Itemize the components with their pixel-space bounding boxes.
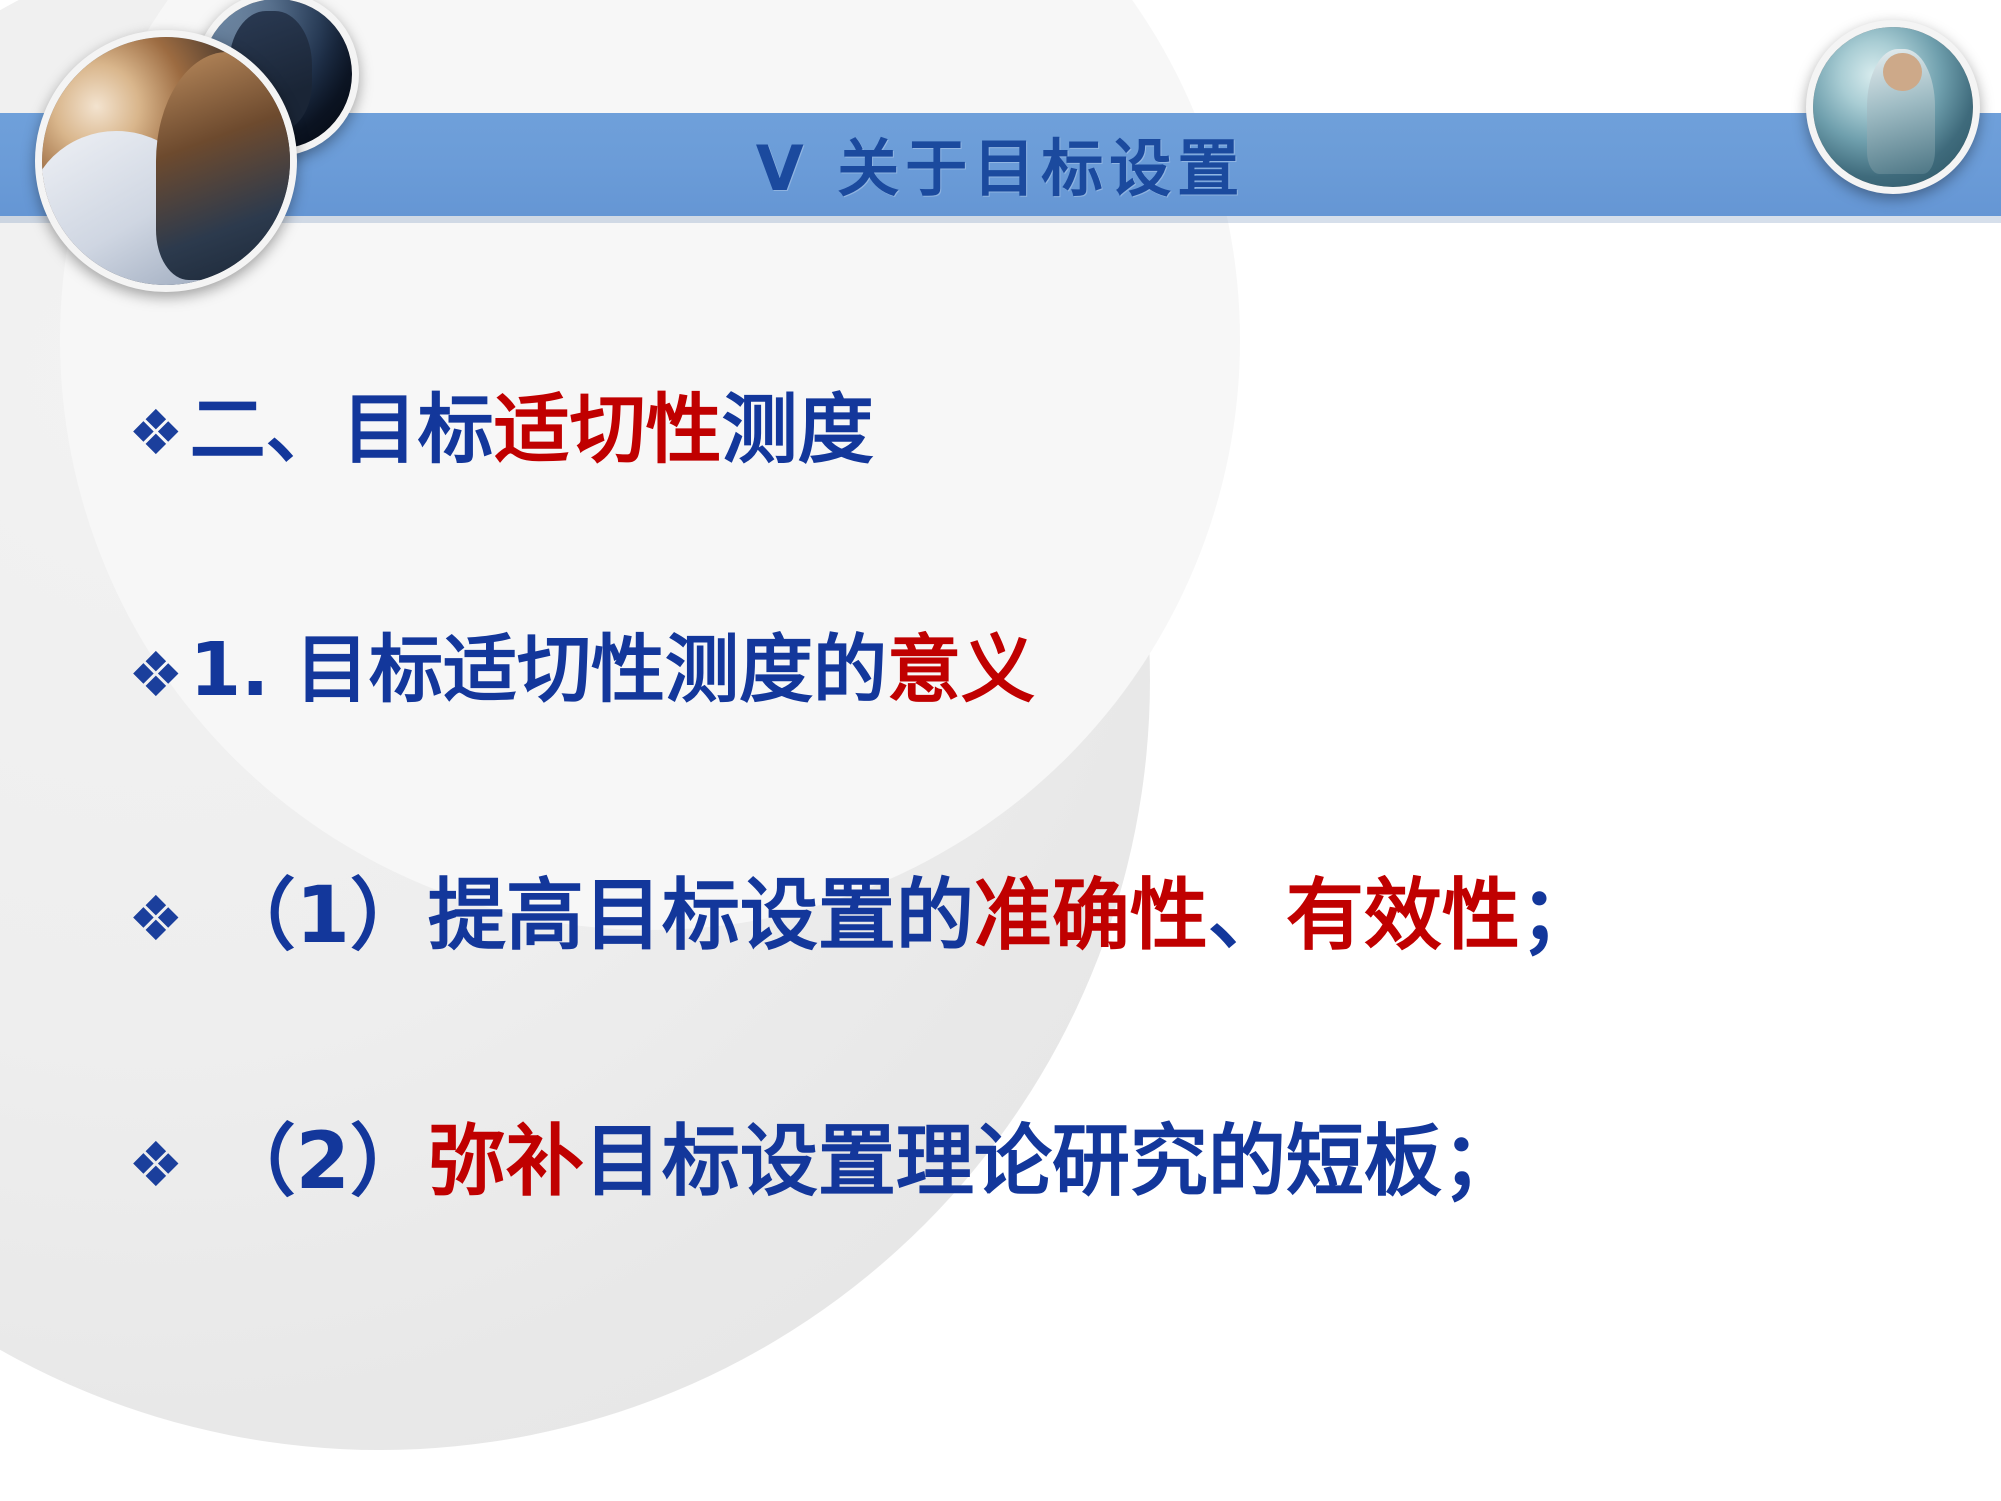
diamond-bullet-icon: ❖ <box>128 644 184 706</box>
bullet-item-3: ❖ （1）提高目标设置的准确性、有效性； <box>128 876 1598 958</box>
bullet-3-seg-3: 有效性 <box>1286 871 1520 961</box>
presentation-slide: Ⅴ 关于目标设置 ❖ 二、目标适切性测度 ❖ 1. 目标适切性测度的意义 ❖ （… <box>0 0 2001 1501</box>
bullet-3-seg-2: 、 <box>1208 871 1286 961</box>
businessman-at-desk-photo <box>1806 20 1980 194</box>
bullet-item-2: ❖ 1. 目标适切性测度的意义 <box>128 632 1035 710</box>
photo-c-image <box>1813 27 1973 187</box>
bullet-item-4-text: （2）弥补目标设置理论研究的短板； <box>218 1122 1520 1204</box>
diamond-bullet-icon: ❖ <box>128 1134 184 1196</box>
bullet-3-seg-1: 准确性 <box>974 871 1208 961</box>
bullet-item-3-text: （1）提高目标设置的准确性、有效性； <box>218 876 1598 958</box>
bullet-4-seg-1: 弥补 <box>428 1117 584 1207</box>
bullet-3-seg-0: （1）提高目标设置的 <box>218 871 974 961</box>
bullet-item-4: ❖ （2）弥补目标设置理论研究的短板； <box>128 1122 1520 1204</box>
bullet-item-1: ❖ 二、目标适切性测度 <box>128 390 874 470</box>
bullet-3-seg-4: ； <box>1520 871 1598 961</box>
bullet-2-seg-0: 1. 目标适切性测度的 <box>190 627 887 713</box>
photo-b-image <box>42 37 290 285</box>
bullet-1-seg-0: 二、目标 <box>190 385 494 474</box>
office-workers-laptop-photo <box>35 30 297 292</box>
bullet-1-seg-2: 测度 <box>722 385 874 474</box>
bullet-2-seg-1: 意义 <box>887 627 1035 713</box>
slide-body: ❖ 二、目标适切性测度 ❖ 1. 目标适切性测度的意义 ❖ （1）提高目标设置的… <box>0 250 2001 1501</box>
diamond-bullet-icon: ❖ <box>128 402 184 464</box>
bullet-1-seg-1: 适切性 <box>494 385 722 474</box>
bullet-item-1-text: 二、目标适切性测度 <box>190 390 874 470</box>
bullet-item-2-text: 1. 目标适切性测度的意义 <box>190 632 1035 710</box>
bullet-4-seg-2: 目标设置理论研究的短板； <box>584 1117 1520 1207</box>
diamond-bullet-icon: ❖ <box>128 888 184 950</box>
bullet-4-seg-0: （2） <box>218 1117 428 1207</box>
